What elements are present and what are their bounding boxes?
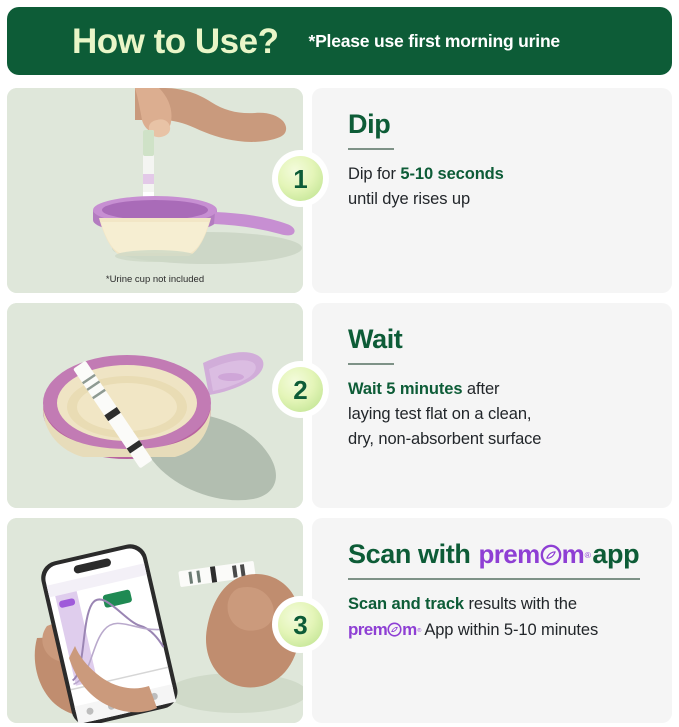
step-row: 3 Scan with premm®app Scan and track res…	[0, 518, 679, 723]
step-title-lead: Scan with	[348, 540, 470, 568]
title-divider	[348, 578, 640, 580]
premom-text-prefix: prem	[478, 541, 539, 568]
step-body-line3: dry, non-absorbent surface	[348, 430, 541, 448]
wait-illustration	[7, 303, 303, 508]
header-note: *Please use first morning urine	[308, 31, 560, 52]
page-title: How to Use?	[72, 24, 278, 59]
premom-text-prefix: prem	[348, 617, 387, 643]
premom-text-suffix: m	[402, 617, 417, 643]
step-photo-wait	[7, 303, 303, 508]
title-divider	[348, 363, 394, 365]
step-body-highlight: Scan and track	[348, 595, 464, 613]
step-badge-inner: 3	[278, 602, 323, 647]
step-number: 3	[293, 612, 307, 638]
step-card-wait: Wait Wait 5 minutes after laying test fl…	[312, 303, 672, 508]
how-to-use-banner: How to Use? *Please use first morning ur…	[7, 7, 672, 75]
premom-o-icon	[387, 617, 402, 643]
step-body-rest: after	[462, 380, 499, 398]
scan-illustration	[7, 518, 303, 723]
step-row: *Urine cup not included 1 Dip Dip for 5-…	[0, 88, 679, 293]
premom-o-icon	[540, 541, 562, 568]
step-body-line2: until dye rises up	[348, 190, 470, 208]
photo-caption: *Urine cup not included	[7, 274, 303, 285]
premom-logo-inline: premm®	[348, 617, 421, 643]
title-divider	[348, 148, 394, 150]
step-row: 2 Wait Wait 5 minutes after laying test …	[0, 303, 679, 508]
step-title: Wait	[348, 325, 648, 353]
step-number: 2	[293, 377, 307, 403]
steps-list: *Urine cup not included 1 Dip Dip for 5-…	[0, 88, 679, 723]
step-body-highlight: 5-10 seconds	[400, 165, 503, 183]
step-body: Wait 5 minutes after laying test flat on…	[348, 377, 648, 451]
registered-mark: ®	[417, 627, 421, 635]
step-badge-1: 1	[272, 150, 329, 207]
step-title: Dip	[348, 110, 648, 138]
step-photo-scan	[7, 518, 303, 723]
step-body-highlight: Wait 5 minutes	[348, 380, 462, 398]
step-body-line2: laying test flat on a clean,	[348, 405, 531, 423]
step-badge-inner: 2	[278, 367, 323, 412]
step-badge-3: 3	[272, 596, 329, 653]
step-number: 1	[293, 166, 307, 192]
premom-text-suffix: m	[562, 541, 585, 568]
step-title-trail: app	[592, 540, 639, 568]
step-title: Scan with premm®app	[348, 540, 648, 568]
step-badge-inner: 1	[278, 156, 323, 201]
step-body-line2-rest: App within 5-10 minutes	[421, 621, 598, 639]
step-card-scan: Scan with premm®app Scan and track resul…	[312, 518, 672, 723]
step-card-dip: Dip Dip for 5-10 seconds until dye rises…	[312, 88, 672, 293]
step-body: Scan and track results with the premm® A…	[348, 592, 648, 643]
step-photo-dip: *Urine cup not included	[7, 88, 303, 293]
step-body-lead: Dip for	[348, 165, 400, 183]
premom-logo: premm®	[478, 541, 590, 568]
step-body: Dip for 5-10 seconds until dye rises up	[348, 162, 648, 212]
registered-mark: ®	[585, 551, 591, 560]
step-body-rest: results with the	[464, 595, 577, 613]
dip-illustration	[7, 88, 303, 293]
step-badge-2: 2	[272, 361, 329, 418]
